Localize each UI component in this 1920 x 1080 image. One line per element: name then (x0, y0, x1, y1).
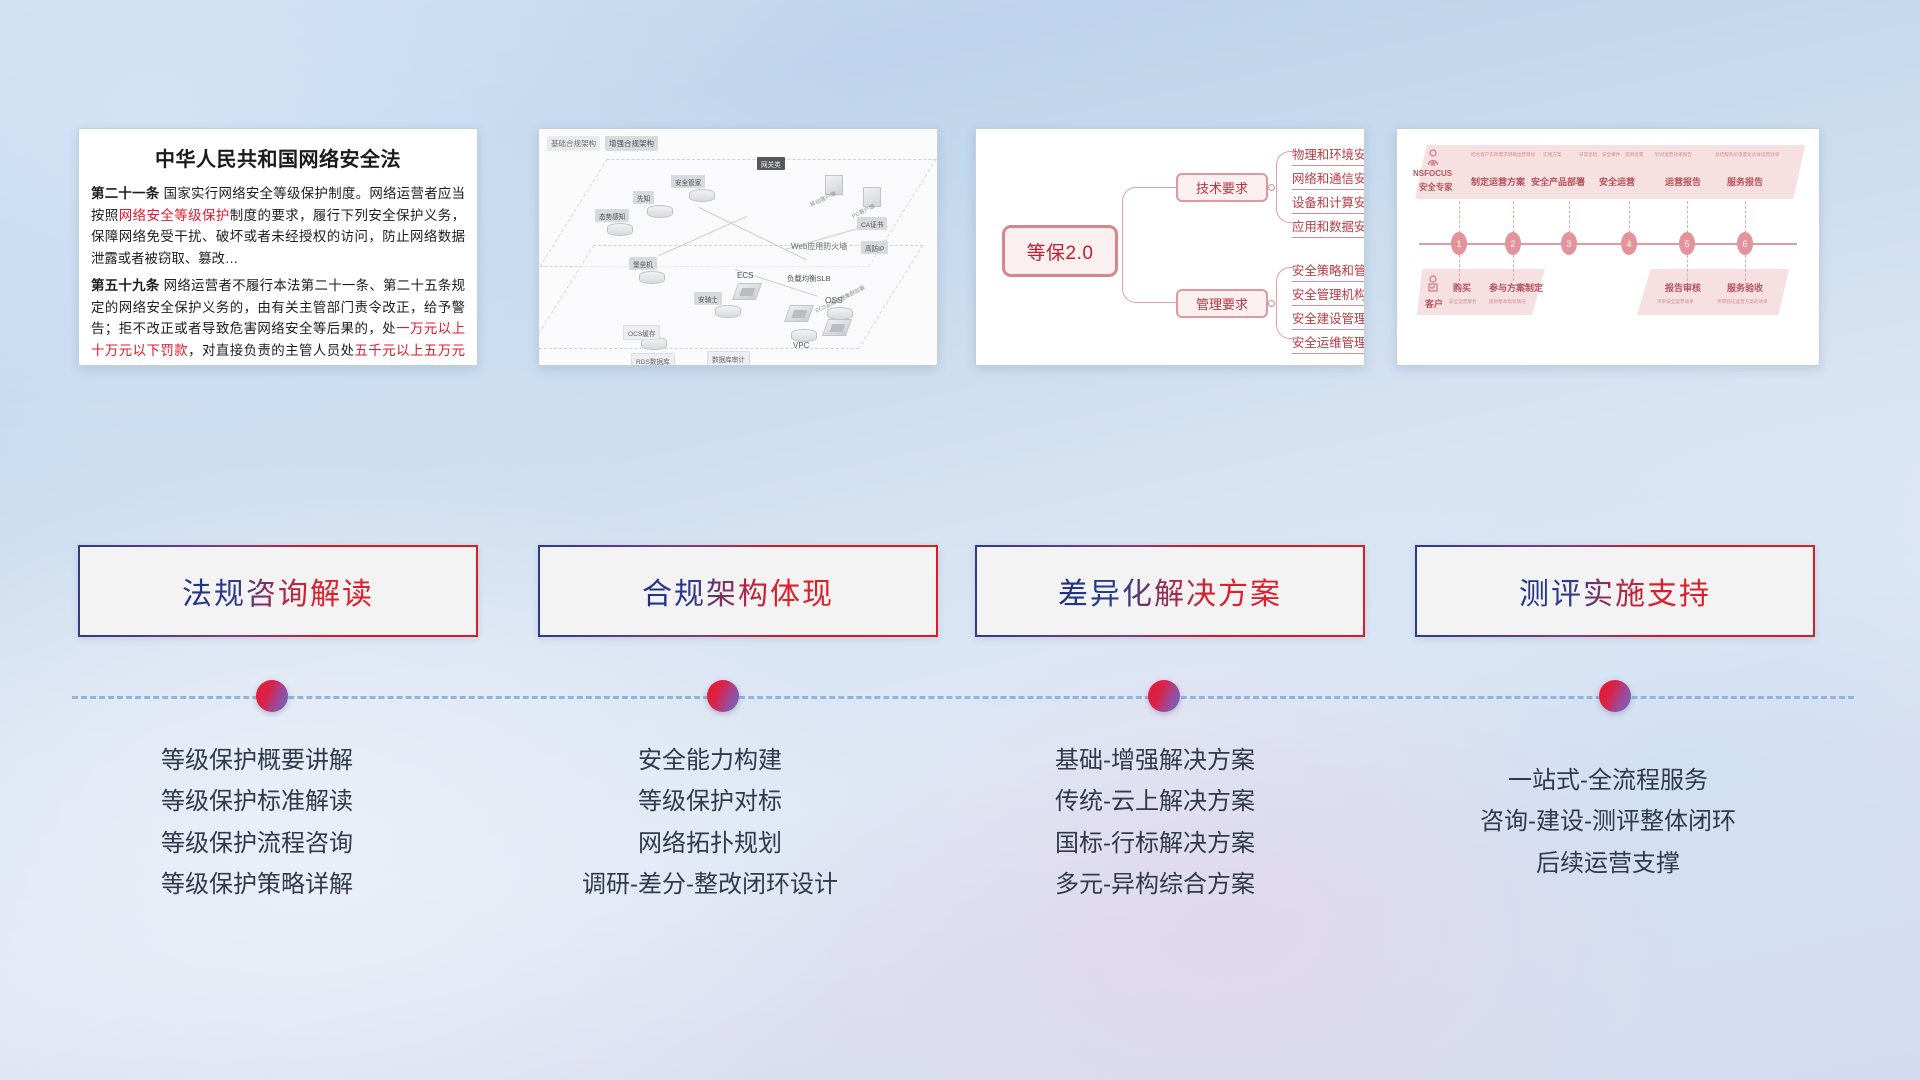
law-title: 中华人民共和国网络安全法 (79, 143, 477, 172)
section-title-label: 法规咨询解读 (182, 569, 374, 613)
mindmap-leaf: 安全策略和管理制度 (1292, 261, 1365, 282)
section-items-2: 安全能力构建 等级保护对标 网络拓扑规划 调研-差分-整改闭环设计 (520, 740, 900, 905)
section-title-box-4[interactable]: 测评实施支持 (1415, 545, 1815, 637)
expert-step-note: 实施方案 (1543, 152, 1561, 158)
timeline-dot-2[interactable] (707, 680, 739, 712)
customer-step-title: 报告审核 (1665, 281, 1701, 294)
nsfocus-customer-band-right (1637, 269, 1789, 315)
section-title-box-2[interactable]: 合规架构体现 (538, 545, 938, 637)
list-item: 等级保护对标 (520, 781, 900, 822)
arch-node-xianzhi: 先知 (633, 191, 654, 204)
list-item: 等级保护流程咨询 (72, 823, 442, 864)
expert-step-note: 针对运营效果报告 (1655, 152, 1692, 158)
preview-card-law[interactable]: 中华人民共和国网络安全法 第二十一条 国家实行网络安全等级保护制度。网络运营者应… (78, 128, 478, 366)
nsfocus-step-marker: 6 (1737, 232, 1753, 255)
arch-puck (689, 189, 715, 202)
list-item: 传统-云上解决方案 (965, 781, 1345, 822)
law-text-highlight: 网络安全等级保护 (119, 208, 230, 223)
law-paragraph: 第五十九条 网络运营者不履行本法第二十一条、第二十五条规定的网络安全保护义务的，… (91, 275, 465, 366)
mindmap-leaf: 安全运维管理 (1292, 333, 1365, 354)
preview-card-architecture[interactable]: 基础合规架构 增强合规架构 网关类 安全管家 先知 (538, 128, 938, 366)
nsfocus-dropline (1745, 255, 1746, 281)
list-item: 后续运营支撑 (1408, 843, 1808, 884)
arch-tab-enhanced[interactable]: 增强合规架构 (605, 136, 658, 151)
mindmap-leaf: 网络和通信安全 (1292, 169, 1365, 190)
list-item: 等级保护标准解读 (72, 781, 442, 822)
mindmap-root-branch-curve (1122, 187, 1176, 303)
mindmap-diagram: 等保2.0 技术要求 管理要求 物理和环境安全 网络和通信安全 设备和计算安全 … (976, 129, 1364, 365)
arch-node-vpc: VPC (793, 341, 809, 350)
nsfocus-dropline (1629, 201, 1630, 233)
mindmap-branch-technical: 技术要求 (1176, 173, 1268, 202)
preview-card-nsfocus[interactable]: NSFOCUS 安全专家 结合客户实际需求明确运营目标 制定运营方案 实施方案 … (1396, 128, 1820, 366)
list-item: 一站式-全流程服务 (1408, 760, 1808, 801)
section-items-3: 基础-增强解决方案 传统-云上解决方案 国标-行标解决方案 多元-异构综合方案 (965, 740, 1345, 905)
nsfocus-step-marker: 3 (1561, 232, 1577, 255)
arch-node-db-audit: 数据库审计 (707, 351, 750, 366)
arch-puck (639, 271, 665, 284)
arch-node-slb: 负载均衡SLB (787, 273, 831, 284)
section-title-box-1[interactable]: 法规咨询解读 (78, 545, 478, 637)
arch-node-bastion: 堡垒机 (629, 257, 657, 270)
list-item: 国标-行标解决方案 (965, 823, 1345, 864)
arch-node-waf: Web应用防火墙 (791, 241, 847, 252)
arch-tab-basic[interactable]: 基础合规架构 (547, 136, 600, 151)
mindmap-root-node: 等保2.0 (1002, 225, 1118, 277)
expert-step-title: 制定运营方案 (1471, 175, 1525, 188)
mindmap-leaf: 物理和环境安全 (1292, 145, 1365, 166)
customer-step-note: 安全运营服务 (1449, 299, 1477, 305)
customer-role-label: 客户 (1425, 297, 1443, 310)
arch-node-situation-awareness: 态势感知 (595, 209, 629, 222)
customer-person-icon (1427, 275, 1439, 292)
nsfocus-step-marker: 5 (1679, 232, 1695, 255)
arch-node-ocs-cache: OCS缓存 (623, 325, 660, 340)
nsfocus-step-marker: 1 (1451, 232, 1467, 255)
nsfocus-timeline: NSFOCUS 安全专家 结合客户实际需求明确运营目标 制定运营方案 实施方案 … (1397, 129, 1819, 365)
customer-step-note: 评审安全运营效果 (1657, 299, 1694, 305)
expert-step-note: 结合客户实际需求明确运营目标 (1471, 152, 1535, 158)
list-item: 调研-差分-整改闭环设计 (520, 864, 900, 905)
list-item: 多元-异构综合方案 (965, 864, 1345, 905)
arch-puck (715, 305, 741, 318)
mindmap-collapse-dot[interactable] (1268, 184, 1275, 191)
slide-canvas: 中华人民共和国网络安全法 第二十一条 国家实行网络安全等级保护制度。网络运营者应… (0, 0, 1920, 1080)
timeline-dot-1[interactable] (256, 680, 288, 712)
arch-node-anti-ddos: 高防IP (861, 241, 888, 254)
law-article-number: 第五十九条 (91, 278, 160, 293)
law-article-number: 第二十一条 (91, 186, 160, 201)
mindmap-collapse-dot[interactable] (1268, 300, 1275, 307)
law-text: ，对直接负责的主管人员处 (188, 343, 354, 358)
section-items-4: 一站式-全流程服务 咨询-建设-测评整体闭环 后续运营支撑 (1408, 760, 1808, 884)
nsfocus-step-marker: 4 (1621, 232, 1637, 255)
nsfocus-dropline (1687, 201, 1688, 233)
arch-node-rds: RDS数据库 (631, 353, 675, 366)
section-title-box-3[interactable]: 差异化解决方案 (975, 545, 1365, 637)
architecture-diagram: 基础合规架构 增强合规架构 网关类 安全管家 先知 (539, 129, 937, 365)
expert-step-title: 安全运营 (1599, 175, 1635, 188)
list-item: 咨询-建设-测评整体闭环 (1408, 801, 1808, 842)
list-item: 等级保护策略详解 (72, 864, 442, 905)
architecture-tabs: 基础合规架构 增强合规架构 (547, 136, 658, 151)
timeline-dot-4[interactable] (1599, 680, 1631, 712)
mindmap-leaf: 安全建设管理 (1292, 309, 1365, 330)
expert-step-note: 日常巡检、安全事件、漏洞处置 (1579, 152, 1643, 158)
arch-puck (607, 223, 633, 236)
customer-step-title: 参与方案制定 (1489, 281, 1543, 294)
nsfocus-dropline (1687, 255, 1688, 281)
arch-puck (827, 307, 853, 320)
nsfocus-dropline (1459, 255, 1460, 281)
section-title-label: 测评实施支持 (1519, 569, 1711, 613)
mindmap-leaf: 设备和计算安全 (1292, 193, 1365, 214)
law-body: 第二十一条 国家实行网络安全等级保护制度。网络运营者应当按照网络安全等级保护制度… (79, 183, 477, 366)
expert-step-title: 服务报告 (1727, 175, 1763, 188)
customer-step-title: 服务验收 (1727, 281, 1763, 294)
arch-node-ecs: ECS (737, 271, 753, 280)
expert-person-icon (1427, 149, 1439, 166)
timeline-dashed-line (72, 696, 1854, 699)
preview-cards-row: 中华人民共和国网络安全法 第二十一条 国家实行网络安全等级保护制度。网络运营者应… (0, 128, 1920, 366)
arch-node-oss: OSS (825, 295, 843, 305)
mindmap-leaf-curve (1276, 151, 1294, 223)
preview-card-mindmap[interactable]: 等保2.0 技术要求 管理要求 物理和环境安全 网络和通信安全 设备和计算安全 … (975, 128, 1365, 366)
customer-step-note: 提供基本现状情况 (1489, 299, 1526, 305)
mindmap-leaf: 安全管理机构和人员 (1292, 285, 1365, 306)
mindmap-leaf: 应用和数据安全 (1292, 217, 1365, 238)
expert-step-note: 总结服务价值量化总体运营效果 (1715, 152, 1779, 158)
arch-node-security-butler: 安全管家 (671, 175, 705, 188)
expert-step-title: 运营报告 (1665, 175, 1701, 188)
arch-node-ca: CA证书 (857, 217, 887, 230)
section-title-label: 合规架构体现 (642, 569, 834, 613)
mindmap-branch-management: 管理要求 (1176, 289, 1268, 318)
list-item: 网络拓扑规划 (520, 823, 900, 864)
nsfocus-label: NSFOCUS (1413, 169, 1452, 178)
nsfocus-dropline (1459, 201, 1460, 233)
mindmap-leaf-curve (1276, 267, 1294, 339)
section-items-1: 等级保护概要讲解 等级保护标准解读 等级保护流程咨询 等级保护策略详解 (72, 740, 442, 905)
nsfocus-dropline (1745, 201, 1746, 233)
list-item: 基础-增强解决方案 (965, 740, 1345, 781)
timeline-dot-3[interactable] (1148, 680, 1180, 712)
arch-plane-lower (538, 245, 923, 349)
list-item: 等级保护概要讲解 (72, 740, 442, 781)
list-item: 安全能力构建 (520, 740, 900, 781)
law-paragraph: 第二十一条 国家实行网络安全等级保护制度。网络运营者应当按照网络安全等级保护制度… (91, 183, 465, 270)
arch-puck (647, 205, 673, 218)
customer-step-title: 购买 (1453, 281, 1471, 294)
expert-step-title: 安全产品部署 (1531, 175, 1585, 188)
nsfocus-step-marker: 2 (1505, 232, 1521, 255)
arch-node-gateway: 网关类 (757, 157, 785, 170)
nsfocus-dropline (1513, 255, 1514, 281)
nsfocus-label: 安全专家 (1419, 181, 1453, 193)
nsfocus-dropline (1569, 201, 1570, 233)
section-title-label: 差异化解决方案 (1058, 569, 1282, 613)
arch-node-anqishi: 安骑士 (694, 292, 722, 305)
nsfocus-dropline (1513, 201, 1514, 233)
customer-step-note: 评审验证运营方案的效果 (1717, 299, 1768, 305)
